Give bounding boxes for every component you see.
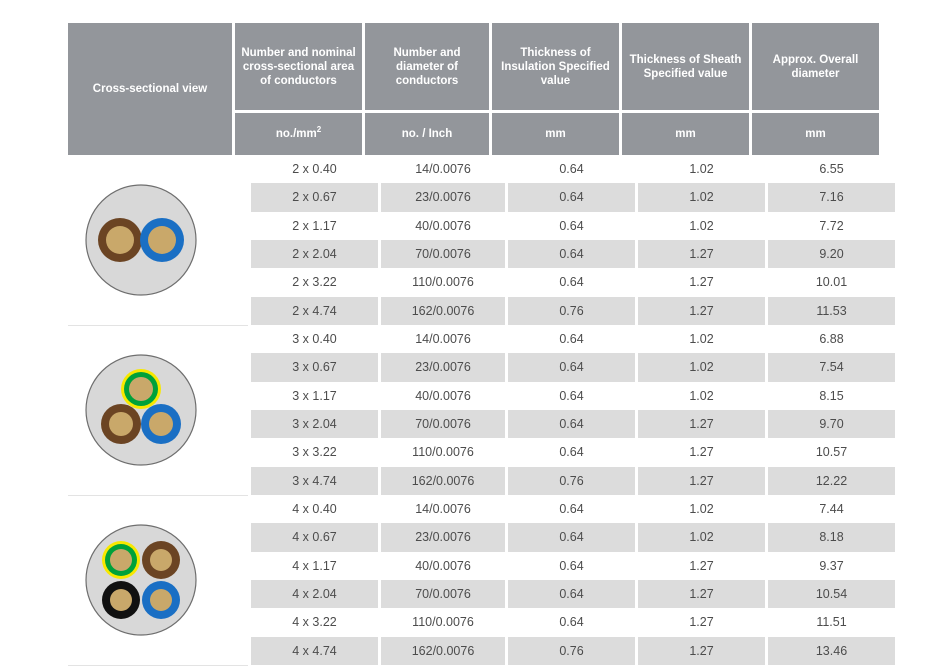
cell-overall: 7.54 xyxy=(768,353,895,381)
header-cell-diameter: Number and diameter of conductors xyxy=(365,23,489,110)
cell-overall: 9.70 xyxy=(768,410,895,438)
cell-insulation: 0.76 xyxy=(508,467,635,495)
cell-sheath: 1.27 xyxy=(638,438,765,466)
table-row[interactable]: 3 x 3.22110/0.00760.641.2710.57 xyxy=(251,438,895,466)
cell-diameter: 14/0.0076 xyxy=(381,495,505,523)
cell-area: 4 x 0.40 xyxy=(251,495,378,523)
cell-sheath: 1.27 xyxy=(638,240,765,268)
header-column-sheath: Thickness of Sheath Specified valuemm xyxy=(622,23,752,155)
cell-overall: 7.72 xyxy=(768,212,895,240)
header-cell-overall: Approx. Overall diameter xyxy=(752,23,879,110)
header-unit-diameter: no. / Inch xyxy=(402,127,452,141)
cell-diameter: 110/0.0076 xyxy=(381,268,505,296)
table-row[interactable]: 3 x 0.4014/0.00760.641.026.88 xyxy=(251,325,895,353)
table-row[interactable]: 4 x 3.22110/0.00760.641.2711.51 xyxy=(251,608,895,636)
cell-diameter: 40/0.0076 xyxy=(381,212,505,240)
cell-insulation: 0.64 xyxy=(508,382,635,410)
header-unit-insulation: mm xyxy=(545,127,565,141)
group-separator xyxy=(68,495,248,496)
cell-insulation: 0.64 xyxy=(508,410,635,438)
header-unit-sheath: mm xyxy=(675,127,695,141)
cell-area: 2 x 0.40 xyxy=(251,155,378,183)
cell-sheath: 1.02 xyxy=(638,382,765,410)
table-row[interactable]: 4 x 1.1740/0.00760.641.279.37 xyxy=(251,552,895,580)
cell-overall: 7.44 xyxy=(768,495,895,523)
cell-sheath: 1.02 xyxy=(638,353,765,381)
cell-insulation: 0.64 xyxy=(508,155,635,183)
table-row[interactable]: 3 x 0.6723/0.00760.641.027.54 xyxy=(251,353,895,381)
cell-insulation: 0.64 xyxy=(508,268,635,296)
cell-sheath: 1.27 xyxy=(638,268,765,296)
cell-diameter: 23/0.0076 xyxy=(381,523,505,551)
cell-diameter: 14/0.0076 xyxy=(381,155,505,183)
cell-overall: 9.20 xyxy=(768,240,895,268)
cell-area: 4 x 1.17 xyxy=(251,552,378,580)
cell-insulation: 0.64 xyxy=(508,212,635,240)
table-row[interactable]: 2 x 2.0470/0.00760.641.279.20 xyxy=(251,240,895,268)
cell-sheath: 1.27 xyxy=(638,637,765,665)
table-row[interactable]: 3 x 4.74162/0.00760.761.2712.22 xyxy=(251,467,895,495)
cell-insulation: 0.76 xyxy=(508,637,635,665)
cell-sheath: 1.02 xyxy=(638,325,765,353)
table-row[interactable]: 4 x 4.74162/0.00760.761.2713.46 xyxy=(251,637,895,665)
cell-overall: 8.18 xyxy=(768,523,895,551)
cable-cross-section-4-core xyxy=(82,521,200,639)
group-separator xyxy=(68,325,248,326)
header-column-overall: Approx. Overall diametermm xyxy=(752,23,882,155)
header-title-sheath: Thickness of Sheath Specified value xyxy=(628,53,743,81)
data-columns: 2 x 0.4014/0.00760.641.026.552 x 0.6723/… xyxy=(251,155,895,665)
group-separator xyxy=(68,665,248,666)
table-row[interactable]: 2 x 4.74162/0.00760.761.2711.53 xyxy=(251,297,895,325)
header-cell-sheath: Thickness of Sheath Specified value xyxy=(622,23,749,110)
cell-area: 2 x 1.17 xyxy=(251,212,378,240)
cell-insulation: 0.64 xyxy=(508,523,635,551)
cell-overall: 9.37 xyxy=(768,552,895,580)
cell-area: 4 x 3.22 xyxy=(251,608,378,636)
cell-area: 3 x 3.22 xyxy=(251,438,378,466)
cell-diameter: 40/0.0076 xyxy=(381,382,505,410)
cell-diameter: 23/0.0076 xyxy=(381,353,505,381)
cell-area: 2 x 3.22 xyxy=(251,268,378,296)
cell-insulation: 0.64 xyxy=(508,183,635,211)
cell-area: 4 x 0.67 xyxy=(251,523,378,551)
cell-overall: 11.53 xyxy=(768,297,895,325)
header-unit-cell-insulation: mm xyxy=(492,113,619,155)
cell-overall: 13.46 xyxy=(768,637,895,665)
cell-diameter: 23/0.0076 xyxy=(381,183,505,211)
cell-insulation: 0.64 xyxy=(508,325,635,353)
cell-area: 2 x 0.67 xyxy=(251,183,378,211)
cross-sectional-view-column xyxy=(68,155,248,665)
header-title-insulation: Thickness of Insulation Specified value xyxy=(498,46,613,88)
cell-diameter: 40/0.0076 xyxy=(381,552,505,580)
cell-diameter: 70/0.0076 xyxy=(381,580,505,608)
cell-area: 3 x 0.67 xyxy=(251,353,378,381)
cell-sheath: 1.27 xyxy=(638,580,765,608)
cell-sheath: 1.27 xyxy=(638,410,765,438)
cell-insulation: 0.64 xyxy=(508,438,635,466)
table-row[interactable]: 4 x 2.0470/0.00760.641.2710.54 xyxy=(251,580,895,608)
header-column-area: Number and nominal cross-sectional area … xyxy=(235,23,365,155)
header-cell-area: Number and nominal cross-sectional area … xyxy=(235,23,362,110)
cell-insulation: 0.64 xyxy=(508,552,635,580)
table-row[interactable]: 2 x 0.4014/0.00760.641.026.55 xyxy=(251,155,895,183)
specification-table: Cross-sectional viewNumber and nominal c… xyxy=(68,23,882,665)
cell-area: 4 x 2.04 xyxy=(251,580,378,608)
cell-insulation: 0.64 xyxy=(508,240,635,268)
header-title-view: Cross-sectional view xyxy=(93,82,207,96)
cell-diameter: 162/0.0076 xyxy=(381,297,505,325)
cell-sheath: 1.27 xyxy=(638,608,765,636)
header-unit-area: no./mm2 xyxy=(276,127,321,141)
table-row[interactable]: 2 x 0.6723/0.00760.641.027.16 xyxy=(251,183,895,211)
cell-sheath: 1.02 xyxy=(638,183,765,211)
header-unit-cell-overall: mm xyxy=(752,113,879,155)
cable-cross-section-2-core xyxy=(82,181,200,299)
cell-insulation: 0.64 xyxy=(508,495,635,523)
header-title-area: Number and nominal cross-sectional area … xyxy=(241,46,356,88)
cell-area: 2 x 4.74 xyxy=(251,297,378,325)
cell-insulation: 0.64 xyxy=(508,353,635,381)
cell-sheath: 1.02 xyxy=(638,212,765,240)
cell-area: 2 x 2.04 xyxy=(251,240,378,268)
table-row[interactable]: 4 x 0.4014/0.00760.641.027.44 xyxy=(251,495,895,523)
header-unit-cell-diameter: no. / Inch xyxy=(365,113,489,155)
table-row[interactable]: 4 x 0.6723/0.00760.641.028.18 xyxy=(251,523,895,551)
cell-overall: 10.01 xyxy=(768,268,895,296)
cell-overall: 7.16 xyxy=(768,183,895,211)
cell-sheath: 1.27 xyxy=(638,297,765,325)
table-body: 2 x 0.4014/0.00760.641.026.552 x 0.6723/… xyxy=(68,155,882,665)
cell-sheath: 1.02 xyxy=(638,523,765,551)
table-row[interactable]: 2 x 1.1740/0.00760.641.027.72 xyxy=(251,212,895,240)
cell-area: 3 x 2.04 xyxy=(251,410,378,438)
header-unit-cell-sheath: mm xyxy=(622,113,749,155)
cell-overall: 6.88 xyxy=(768,325,895,353)
cable-cross-section-3-core xyxy=(82,351,200,469)
header-cell-insulation: Thickness of Insulation Specified value xyxy=(492,23,619,110)
cell-diameter: 162/0.0076 xyxy=(381,637,505,665)
header-title-overall: Approx. Overall diameter xyxy=(758,53,873,81)
cell-sheath: 1.02 xyxy=(638,155,765,183)
cell-diameter: 14/0.0076 xyxy=(381,325,505,353)
cell-overall: 6.55 xyxy=(768,155,895,183)
cell-sheath: 1.02 xyxy=(638,495,765,523)
cell-area: 3 x 0.40 xyxy=(251,325,378,353)
cell-diameter: 162/0.0076 xyxy=(381,467,505,495)
cell-overall: 8.15 xyxy=(768,382,895,410)
cell-diameter: 70/0.0076 xyxy=(381,240,505,268)
header-column-insulation: Thickness of Insulation Specified valuem… xyxy=(492,23,622,155)
cell-insulation: 0.64 xyxy=(508,608,635,636)
header-title-diameter: Number and diameter of conductors xyxy=(371,46,483,88)
header-unit-cell-area: no./mm2 xyxy=(235,113,362,155)
cell-sheath: 1.27 xyxy=(638,467,765,495)
cell-diameter: 110/0.0076 xyxy=(381,438,505,466)
table-row[interactable]: 3 x 1.1740/0.00760.641.028.15 xyxy=(251,382,895,410)
cell-overall: 10.54 xyxy=(768,580,895,608)
cell-area: 3 x 4.74 xyxy=(251,467,378,495)
cell-insulation: 0.76 xyxy=(508,297,635,325)
cell-area: 4 x 4.74 xyxy=(251,637,378,665)
table-header: Cross-sectional viewNumber and nominal c… xyxy=(68,23,882,155)
table-row[interactable]: 2 x 3.22110/0.00760.641.2710.01 xyxy=(251,268,895,296)
cell-diameter: 70/0.0076 xyxy=(381,410,505,438)
header-unit-overall: mm xyxy=(805,127,825,141)
cell-overall: 12.22 xyxy=(768,467,895,495)
header-cell-view: Cross-sectional view xyxy=(68,23,232,155)
cell-sheath: 1.27 xyxy=(638,552,765,580)
table-row[interactable]: 3 x 2.0470/0.00760.641.279.70 xyxy=(251,410,895,438)
cell-insulation: 0.64 xyxy=(508,580,635,608)
header-column-diameter: Number and diameter of conductorsno. / I… xyxy=(365,23,492,155)
cell-area: 3 x 1.17 xyxy=(251,382,378,410)
cell-diameter: 110/0.0076 xyxy=(381,608,505,636)
cell-overall: 11.51 xyxy=(768,608,895,636)
cell-overall: 10.57 xyxy=(768,438,895,466)
